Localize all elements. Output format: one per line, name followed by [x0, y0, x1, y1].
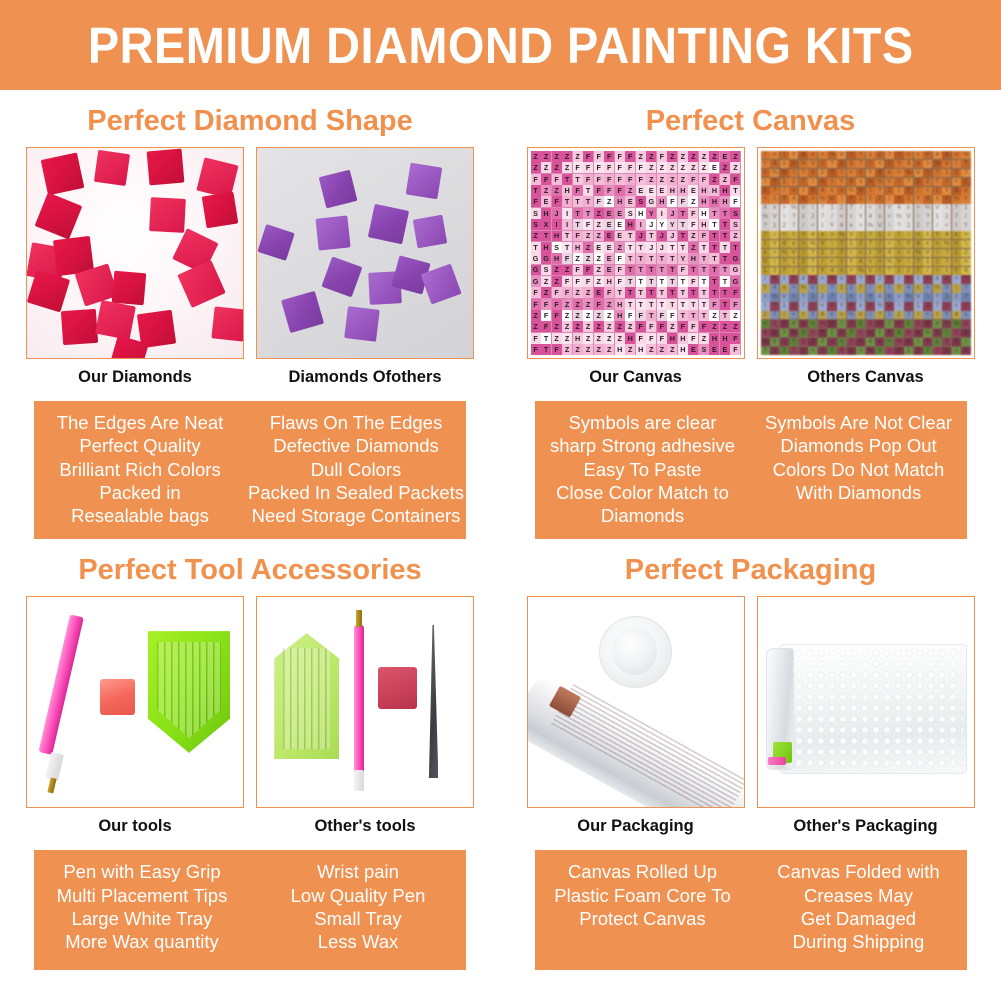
canvas-symbol-cell: >	[923, 284, 932, 292]
canvas-symbol-cell: F	[594, 185, 604, 196]
canvas-symbol-cell: x	[923, 240, 932, 249]
canvas-symbol-cell: 7	[885, 275, 894, 284]
canvas-symbol-cell: Y	[667, 219, 677, 230]
canvas-symbol-cell: 2	[904, 267, 913, 276]
canvas-symbol-cell: T	[709, 219, 719, 230]
canvas-symbol-cell: T	[657, 265, 667, 276]
canvas-symbol-cell: >	[770, 249, 779, 257]
canvas-symbol-cell: Y	[961, 347, 970, 356]
canvas-symbol-cell: Z	[720, 321, 730, 332]
canvas-symbol-cell: Y	[923, 151, 932, 159]
canvas-symbol-cell: x	[942, 275, 951, 284]
canvas-symbol-cell: 1	[961, 329, 970, 338]
pen-tip-icon	[45, 752, 64, 782]
canvas-symbol-cell: Y	[866, 293, 875, 302]
canvas-symbol-cell: Y	[847, 258, 856, 267]
canvas-symbol-cell: F	[604, 185, 614, 196]
canvas-symbol-cell: T	[688, 299, 698, 310]
canvas-symbol-cell: ?	[761, 222, 770, 231]
canvas-symbol-cell: F	[583, 276, 593, 287]
canvas-symbol-cell: <	[799, 267, 808, 276]
canvas-symbol-cell: >	[894, 293, 903, 302]
canvas-symbol-cell: /	[837, 169, 846, 178]
canvas-symbol-cell: Z	[562, 344, 572, 355]
canvas-symbol-cell: V	[770, 338, 779, 347]
canvas-symbol-cell: >	[780, 329, 789, 338]
canvas-symbol-cell: H	[678, 344, 688, 355]
canvas-symbol-cell: 7	[875, 195, 884, 204]
canvas-symbol-cell: 7	[923, 347, 932, 356]
canvas-symbol-cell: F	[646, 321, 656, 332]
canvas-symbol-cell: Y	[789, 151, 798, 159]
canvas-symbol-cell: Z	[699, 162, 709, 173]
canvas-symbol-cell: ?	[875, 187, 884, 196]
canvas-symbol-cell: Y	[827, 347, 836, 356]
canvas-symbol-cell: E	[541, 196, 551, 207]
canvas-symbol-cell: 1	[914, 302, 923, 311]
canvas-symbol-cell: >	[837, 311, 846, 320]
canvas-symbol-cell: <	[875, 284, 884, 292]
canvas-symbol-cell: F	[583, 265, 593, 276]
canvas-symbol-cell: 4	[866, 338, 875, 347]
canvas-symbol-cell: /	[885, 195, 894, 204]
canvas-symbol-cell: F	[573, 265, 583, 276]
fact-line: Flaws On The Edges	[248, 411, 464, 434]
canvas-symbol-cell: /	[894, 275, 903, 284]
canvas-symbol-cell: Z	[730, 231, 740, 242]
canvas-symbol-cell: t	[780, 275, 789, 284]
canvas-symbol-cell: F	[604, 151, 614, 162]
canvas-symbol-cell: V	[866, 267, 875, 276]
canvas-symbol-cell: ?	[894, 222, 903, 231]
canvas-symbol-cell: 1	[942, 169, 951, 178]
canvas-symbol-cell: 2	[866, 320, 875, 328]
photo-cell-our-tools: Our tools	[26, 596, 244, 838]
canvas-symbol-cell: T	[678, 219, 688, 230]
fact-line: Close Color Match to	[537, 481, 749, 504]
canvas-symbol-cell: /	[933, 347, 942, 356]
canvas-symbol-cell: t	[799, 311, 808, 320]
canvas-symbol-cell: H	[709, 185, 719, 196]
canvas-symbol-cell: T	[720, 310, 730, 321]
photo-cell-our-packaging: Our Packaging	[527, 596, 745, 838]
canvas-symbol-cell: G	[531, 276, 541, 287]
canvas-symbol-cell: Y	[789, 275, 798, 284]
canvas-symbol-cell: F	[657, 321, 667, 332]
fact-line: During Shipping	[753, 930, 965, 953]
canvas-symbol-cell: T	[709, 208, 719, 219]
canvas-symbol-cell: 4	[904, 284, 913, 292]
canvas-symbol-cell: \	[799, 249, 808, 257]
canvas-symbol-cell: F	[730, 287, 740, 298]
canvas-symbol-cell: F	[583, 162, 593, 173]
canvas-symbol-cell: V	[961, 320, 970, 328]
photo-row: Our Packaging Other's Packaging	[501, 596, 1001, 838]
tube-cap-cone-icon	[612, 627, 657, 675]
canvas-symbol-cell: x	[761, 249, 770, 257]
canvas-symbol-cell: 4	[961, 267, 970, 276]
canvas-symbol-cell: 1	[770, 347, 779, 356]
wax-square-icon	[378, 667, 417, 709]
canvas-symbol-cell: T	[730, 242, 740, 253]
canvas-symbol-cell: /	[799, 222, 808, 231]
canvas-symbol-cell: V	[827, 320, 836, 328]
canvas-symbol-cell: F	[604, 287, 614, 298]
canvas-symbol-cell: %	[866, 347, 875, 356]
canvas-symbol-cell: 7	[952, 213, 961, 221]
canvas-symbol-cell: 4	[933, 275, 942, 284]
canvas-symbol-cell: Y	[914, 195, 923, 204]
canvas-symbol-cell: F	[573, 231, 583, 242]
canvas-symbol-cell: T	[699, 287, 709, 298]
canvas-symbol-cell: Z	[573, 310, 583, 321]
fact-line: Diamonds Pop Out	[753, 434, 965, 457]
canvas-symbol-cell: F	[583, 219, 593, 230]
canvas-symbol-cell: F	[688, 276, 698, 287]
canvas-symbol-cell: Y	[780, 320, 789, 328]
canvas-symbol-cell: %	[961, 275, 970, 284]
canvas-symbol-cell: S	[730, 219, 740, 230]
canvas-symbol-cell: Z	[646, 344, 656, 355]
canvas-symbol-cell: %	[827, 275, 836, 284]
canvas-symbol-cell: F	[636, 310, 646, 321]
canvas-symbol-cell: 7	[827, 293, 836, 302]
canvas-symbol-cell: 7	[770, 187, 779, 196]
canvas-symbol-cell: \	[904, 258, 913, 267]
canvas-symbol-cell: F	[531, 196, 541, 207]
photo-cell-other-packaging: Other's Packaging	[757, 596, 975, 838]
canvas-symbol-cell: 2	[923, 302, 932, 311]
canvas-symbol-cell: 4	[923, 320, 932, 328]
canvas-symbol-cell: V	[914, 169, 923, 178]
canvas-symbol-cell: ?	[827, 284, 836, 292]
canvas-symbol-cell: t	[856, 169, 865, 178]
canvas-symbol-cell: /	[961, 213, 970, 221]
fact-line: Easy To Paste	[537, 458, 749, 481]
canvas-symbol-cell: >	[875, 258, 884, 267]
canvas-symbol-cell: T	[625, 231, 635, 242]
canvas-symbol-cell: 7	[847, 329, 856, 338]
canvas-symbol-cell: x	[856, 178, 865, 186]
canvas-symbol-cell: Z	[709, 310, 719, 321]
canvas-symbol-cell: x	[894, 249, 903, 257]
fact-line: Small Tray	[252, 907, 464, 930]
canvas-symbol-cell: x	[952, 231, 961, 240]
canvas-symbol-cell: J	[646, 242, 656, 253]
canvas-symbol-cell: >	[818, 275, 827, 284]
canvas-symbol-cell: Z	[604, 310, 614, 321]
canvas-symbol-cell: t	[961, 178, 970, 186]
canvas-symbol-cell: F	[730, 196, 740, 207]
canvas-symbol-cell: E	[615, 208, 625, 219]
canvas-symbol-cell: x	[961, 187, 970, 196]
canvas-symbol-cell: T	[699, 276, 709, 287]
canvas-symbol-cell: ?	[770, 178, 779, 186]
canvas-symbol-cell: \	[866, 187, 875, 196]
canvas-symbol-cell: G	[541, 253, 551, 264]
canvas-symbol-cell: F	[699, 231, 709, 242]
canvas-symbol-cell: Z	[667, 174, 677, 185]
canvas-symbol-cell: <	[818, 178, 827, 186]
canvas-symbol-cell: Z	[552, 265, 562, 276]
canvas-symbol-cell: T	[678, 231, 688, 242]
canvas-symbol-cell: <	[808, 222, 817, 231]
image-our-diamonds	[26, 147, 244, 359]
canvas-symbol-cell: H	[636, 208, 646, 219]
section-title: Perfect Packaging	[501, 539, 1001, 596]
canvas-symbol-cell: <	[761, 195, 770, 204]
fact-line: Less Wax	[252, 930, 464, 953]
canvas-symbol-cell: S	[730, 208, 740, 219]
canvas-symbol-cell: F	[699, 321, 709, 332]
canvas-symbol-cell: %	[818, 320, 827, 328]
canvas-symbol-cell: T	[699, 299, 709, 310]
canvas-symbol-cell: T	[709, 253, 719, 264]
canvas-symbol-cell: ?	[847, 320, 856, 328]
canvas-symbol-cell: Z	[594, 231, 604, 242]
canvas-symbol-cell: V	[837, 151, 846, 159]
facts-col-ours: The Edges Are Neat Perfect Quality Brill…	[34, 411, 246, 527]
canvas-symbol-cell: 1	[961, 204, 970, 213]
canvas-symbol-cell: T	[678, 276, 688, 287]
canvas-symbol-cell: F	[688, 208, 698, 219]
canvas-symbol-cell: /	[866, 160, 875, 169]
canvas-symbol-cell: >	[827, 231, 836, 240]
canvas-symbol-cell: G	[730, 265, 740, 276]
canvas-symbol-cell: Z	[615, 333, 625, 344]
canvas-symbol-cell: 4	[942, 231, 951, 240]
canvas-symbol-cell: x	[914, 160, 923, 169]
canvas-symbol-cell: T	[709, 276, 719, 287]
canvas-symbol-cell: 1	[933, 338, 942, 347]
pen-tip-icon	[354, 770, 364, 791]
canvas-symbol-cell: 4	[875, 169, 884, 178]
canvas-symbol-cell: ?	[789, 338, 798, 347]
canvas-symbol-cell: <	[827, 258, 836, 267]
canvas-symbol-cell: 4	[847, 302, 856, 311]
canvas-symbol-cell: 7	[952, 338, 961, 347]
canvas-symbol-cell: Z	[646, 162, 656, 173]
canvas-symbol-cell: S	[531, 208, 541, 219]
canvas-symbol-cell: Y	[761, 284, 770, 292]
canvas-symbol-cell: Y	[827, 222, 836, 231]
canvas-symbol-cell: T	[667, 287, 677, 298]
canvas-symbol-cell: T	[625, 299, 635, 310]
canvas-symbol-cell: /	[894, 151, 903, 159]
canvas-symbol-cell: 7	[914, 267, 923, 276]
canvas-symbol-cell: 7	[837, 249, 846, 257]
bubble-mailer-art	[758, 597, 974, 807]
canvas-symbol-cell: \	[875, 267, 884, 276]
canvas-symbol-cell: Y	[885, 329, 894, 338]
canvas-symbol-cell: E	[720, 344, 730, 355]
canvas-symbol-cell: V	[875, 222, 884, 231]
canvas-symbol-cell: F	[552, 174, 562, 185]
image-other-tools	[256, 596, 474, 808]
canvas-symbol-cell: /	[818, 258, 827, 267]
canvas-symbol-cell: /	[799, 347, 808, 356]
canvas-symbol-cell: T	[625, 253, 635, 264]
canvas-symbol-cell: F	[699, 174, 709, 185]
canvas-symbol-cell: Z	[657, 162, 667, 173]
canvas-symbol-cell: >	[856, 222, 865, 231]
canvas-symbol-cell: t	[952, 347, 961, 356]
canvas-symbol-cell: F	[678, 265, 688, 276]
canvas-symbol-cell: 1	[856, 320, 865, 328]
canvas-symbol-cell: H	[709, 196, 719, 207]
canvas-symbol-cell: ?	[789, 213, 798, 221]
canvas-symbol-cell: Z	[552, 151, 562, 162]
canvas-symbol-cell: V	[789, 249, 798, 257]
canvas-symbol-cell: 2	[780, 222, 789, 231]
canvas-symbol-cell: x	[847, 347, 856, 356]
canvas-symbol-cell: <	[761, 320, 770, 328]
canvas-symbol-cell: Z	[615, 242, 625, 253]
canvas-symbol-cell: t	[818, 347, 827, 356]
canvas-symbol-cell: Z	[688, 151, 698, 162]
canvas-symbol-cell: <	[866, 329, 875, 338]
canvas-symbol-cell: S	[625, 208, 635, 219]
canvas-symbol-cell: T	[720, 231, 730, 242]
canvas-symbol-cell: x	[770, 204, 779, 213]
canvas-symbol-cell: 4	[799, 275, 808, 284]
canvas-symbol-cell: 2	[808, 213, 817, 221]
canvas-symbol-cell: Y	[875, 249, 884, 257]
canvas-symbol-cell: F	[573, 185, 583, 196]
canvas-symbol-cell: %	[837, 231, 846, 240]
canvas-symbol-cell: T	[646, 299, 656, 310]
canvas-symbol-cell: 7	[904, 187, 913, 196]
canvas-symbol-cell: 7	[894, 231, 903, 240]
canvas-symbol-cell: T	[720, 287, 730, 298]
canvas-symbol-cell: <	[923, 311, 932, 320]
canvas-symbol-cell: Y	[904, 240, 913, 249]
canvas-symbol-cell: F	[688, 174, 698, 185]
canvas-symbol-cell: J	[667, 231, 677, 242]
canvas-symbol-cell: t	[923, 231, 932, 240]
canvas-symbol-cell: Z	[730, 162, 740, 173]
canvas-symbol-cell: \	[923, 293, 932, 302]
canvas-symbol-cell: Y	[914, 320, 923, 328]
canvas-symbol-cell: Z	[583, 287, 593, 298]
bubble-wrap-texture	[783, 648, 962, 770]
image-our-tools	[26, 596, 244, 808]
canvas-symbol-cell: F	[730, 299, 740, 310]
canvas-symbol-cell: 2	[866, 195, 875, 204]
canvas-symbol-cell: Z	[730, 321, 740, 332]
canvas-symbol-cell: \	[837, 195, 846, 204]
canvas-symbol-cell: T	[636, 253, 646, 264]
canvas-symbol-cell: %	[923, 204, 932, 213]
canvas-symbol-cell: %	[789, 329, 798, 338]
canvas-symbol-cell: S	[552, 242, 562, 253]
canvas-symbol-cell: \	[847, 151, 856, 159]
facts-col-others: Flaws On The Edges Defective Diamonds Du…	[246, 411, 466, 527]
canvas-symbol-cell: \	[942, 329, 951, 338]
canvas-symbol-cell: F	[615, 276, 625, 287]
canvas-symbol-cell: T	[646, 253, 656, 264]
canvas-symbol-cell: \	[961, 240, 970, 249]
canvas-symbol-cell: H	[573, 333, 583, 344]
canvas-symbol-cell: \	[952, 284, 961, 292]
canvas-symbol-cell: 4	[770, 284, 779, 292]
canvas-symbol-cell: %	[818, 195, 827, 204]
photo-caption: Our Packaging	[527, 808, 745, 838]
canvas-symbol-cell: Z	[646, 151, 656, 162]
canvas-symbol-cell: x	[933, 195, 942, 204]
canvas-symbol-cell: Z	[552, 185, 562, 196]
canvas-symbol-cell: \	[914, 213, 923, 221]
facts-col-others: Canvas Folded with Creases May Get Damag…	[751, 860, 967, 958]
canvas-symbol-cell: >	[933, 240, 942, 249]
canvas-symbol-cell: 7	[933, 302, 942, 311]
canvas-symbol-cell: T	[573, 208, 583, 219]
canvas-symbol-cell: 4	[808, 231, 817, 240]
canvas-symbol-cell: Z	[604, 196, 614, 207]
fact-line: Packed in	[36, 481, 244, 504]
canvas-symbol-cell: 2	[875, 151, 884, 159]
canvas-symbol-cell: F	[625, 162, 635, 173]
fact-line: Resealable bags	[36, 504, 244, 527]
fact-line: Large White Tray	[36, 907, 248, 930]
canvas-symbol-cell: %	[761, 213, 770, 221]
canvas-symbol-cell: F	[657, 333, 667, 344]
canvas-symbol-cell: <	[837, 338, 846, 347]
canvas-symbol-cell: F	[615, 185, 625, 196]
canvas-symbol-cell: %	[770, 293, 779, 302]
canvas-symbol-cell: E	[688, 185, 698, 196]
infographic-page: PREMIUM DIAMOND PAINTING KITS Perfect Di…	[0, 0, 1001, 1001]
canvas-symbol-cell: x	[808, 151, 817, 159]
canvas-symbol-cell: Z	[594, 208, 604, 219]
canvas-symbol-cell: T	[646, 231, 656, 242]
canvas-symbol-cell: x	[799, 195, 808, 204]
facts-col-ours: Symbols are clear sharp Strong adhesive …	[535, 411, 751, 527]
canvas-symbol-cell: t	[761, 240, 770, 249]
canvas-symbol-cell: F	[615, 162, 625, 173]
canvas-symbol-cell: 2	[837, 329, 846, 338]
canvas-symbol-cell: T	[531, 242, 541, 253]
canvas-symbol-cell: 4	[885, 249, 894, 257]
canvas-symbol-cell: ?	[827, 160, 836, 169]
canvas-symbol-cell: t	[847, 213, 856, 221]
fact-line: More Wax quantity	[36, 930, 248, 953]
canvas-symbol-cell: F	[615, 151, 625, 162]
canvas-symbol-cell: 7	[856, 160, 865, 169]
canvas-symbol-cell: F	[552, 287, 562, 298]
canvas-symbol-cell: Z	[594, 265, 604, 276]
canvas-symbol-cell: 2	[952, 293, 961, 302]
fact-line: Diamonds	[537, 504, 749, 527]
canvas-symbol-cell: %	[799, 284, 808, 292]
canvas-symbol-cell: t	[847, 338, 856, 347]
canvas-symbol-cell: /	[808, 302, 817, 311]
canvas-symbol-cell: 2	[799, 258, 808, 267]
photo-row: Our tools Other's	[0, 596, 500, 838]
canvas-symbol-cell: 1	[866, 151, 875, 159]
canvas-symbol-cell: Z	[562, 321, 572, 332]
canvas-symbol-cell: \	[808, 204, 817, 213]
canvas-symbol-cell: V	[818, 240, 827, 249]
canvas-symbol-cell: Y	[657, 219, 667, 230]
canvas-symbol-cell: ?	[923, 213, 932, 221]
canvas-symbol-cell: T	[730, 185, 740, 196]
canvas-symbol-cell: 7	[818, 338, 827, 347]
canvas-symbol-cell: Z	[583, 344, 593, 355]
canvas-symbol-cell: x	[885, 293, 894, 302]
canvas-symbol-cell: 4	[770, 160, 779, 169]
canvas-symbol-cell: Z	[552, 333, 562, 344]
